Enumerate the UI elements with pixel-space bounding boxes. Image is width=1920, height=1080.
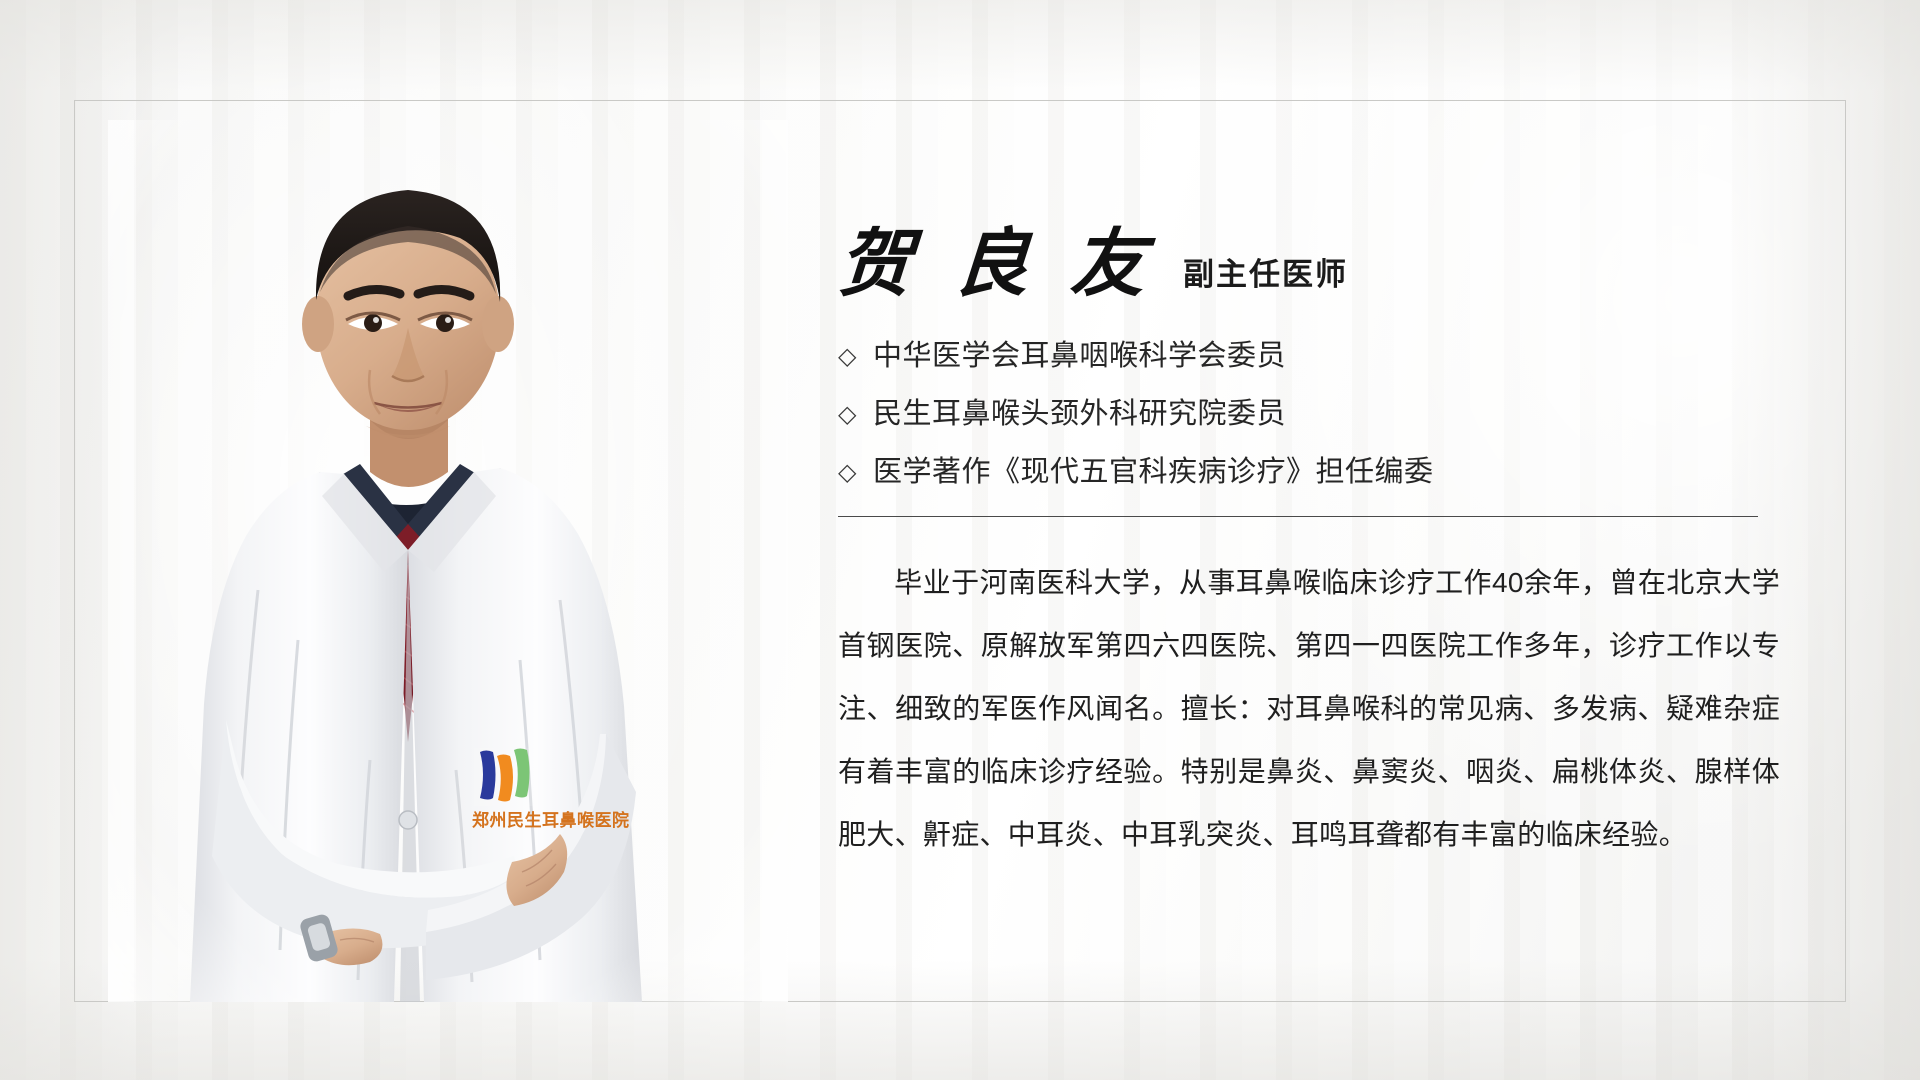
credential-item: ◇ 医学著作《现代五官科疾病诊疗》担任编委 (838, 458, 1798, 487)
doctor-bio: 毕业于河南医科大学，从事耳鼻喉临床诊疗工作40余年，曾在北京大学首钢医院、原解放… (838, 551, 1780, 866)
doctor-portrait-illustration: 郑州民生耳鼻喉医院 (108, 120, 788, 1002)
bio-text: 毕业于河南医科大学，从事耳鼻喉临床诊疗工作40余年，曾在北京大学首钢医院、原解放… (838, 567, 1780, 850)
doctor-name-row: 贺 良 友 副主任医师 (838, 208, 1798, 302)
credential-text: 中华医学会耳鼻咽喉科学会委员 (873, 342, 1286, 371)
credential-list: ◇ 中华医学会耳鼻咽喉科学会委员 ◇ 民生耳鼻喉头颈外科研究院委员 ◇ 医学著作… (838, 342, 1798, 487)
diamond-icon: ◇ (838, 403, 857, 427)
credential-text: 医学著作《现代五官科疾病诊疗》担任编委 (873, 458, 1434, 487)
diamond-icon: ◇ (838, 461, 857, 485)
credential-item: ◇ 民生耳鼻喉头颈外科研究院委员 (838, 400, 1798, 429)
credential-text: 民生耳鼻喉头颈外科研究院委员 (873, 400, 1286, 429)
doctor-photo: 郑州民生耳鼻喉医院 (108, 120, 788, 1002)
doctor-info-panel: 贺 良 友 副主任医师 ◇ 中华医学会耳鼻咽喉科学会委员 ◇ 民生耳鼻喉头颈外科… (838, 208, 1798, 866)
diamond-icon: ◇ (838, 345, 857, 369)
section-divider (838, 516, 1758, 517)
doctor-name: 贺 良 友 (835, 228, 1159, 302)
credential-item: ◇ 中华医学会耳鼻咽喉科学会委员 (838, 342, 1798, 371)
doctor-title: 副主任医师 (1183, 249, 1348, 302)
